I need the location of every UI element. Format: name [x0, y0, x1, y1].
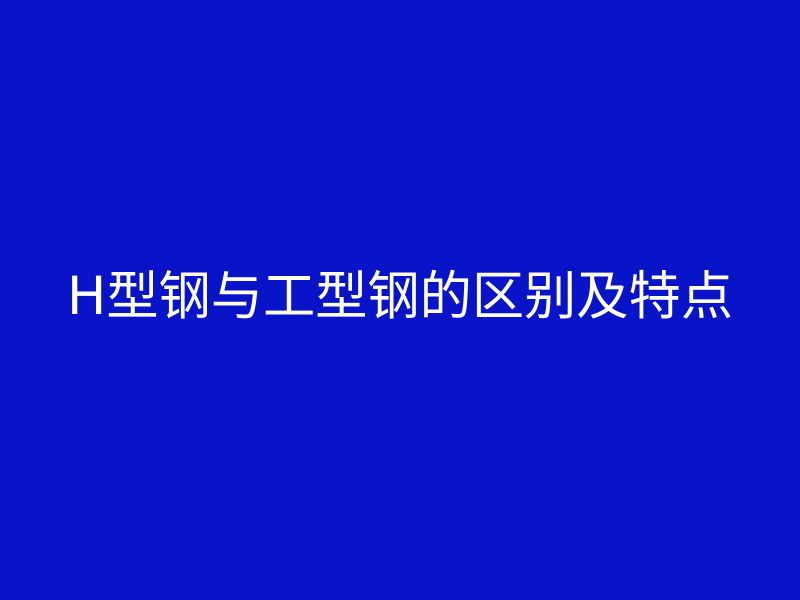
title-slide: H型钢与工型钢的区别及特点: [0, 0, 800, 600]
page-title: H型钢与工型钢的区别及特点: [0, 271, 800, 323]
